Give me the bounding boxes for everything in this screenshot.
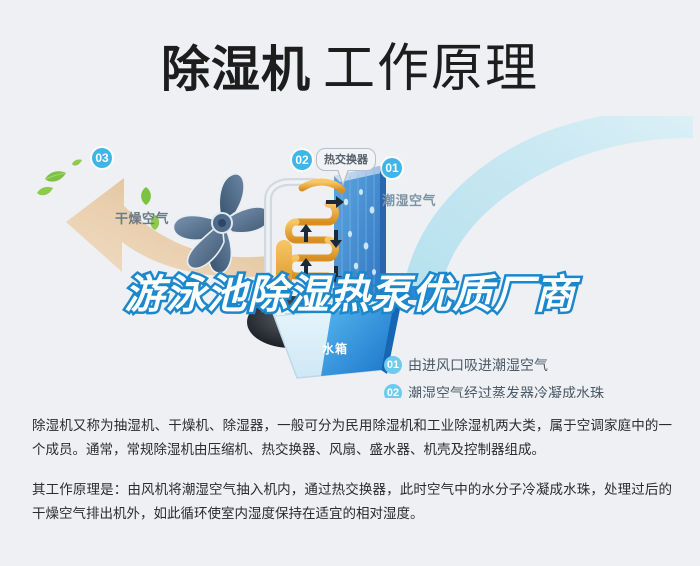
list-item: 02 潮湿空气经过蒸发器冷凝成水珠 [384,379,684,398]
page-title-part1: 除湿机 [161,41,311,98]
diagram-badge-01: 01 [382,158,402,178]
step-text: 由进风口吸进潮湿空气 [408,355,548,375]
watermark-text: 游泳池除湿热泵优质厂商 [0,262,700,320]
list-item: 01 由进风口吸进潮湿空气 [384,351,684,379]
diagram-badge-03: 03 [92,148,112,168]
dehumidifier-diagram: 水箱 03 干燥空气 02 热交换器 01 潮湿空气 01 由进风口吸进潮湿空气… [0,108,700,398]
dry-air-label: 干燥空气 [115,208,169,227]
step-badge: 01 [384,356,402,374]
steps-list: 01 由进风口吸进潮湿空气 02 潮湿空气经过蒸发器冷凝成水珠 03 从上部出风… [384,351,684,398]
step-badge: 02 [384,384,402,398]
leaf-icon [72,154,82,172]
description-paragraph-1: 除湿机又称为抽湿机、干燥机、除湿器，一般可分为民用除湿机和工业除湿机两大类，属于… [32,414,672,462]
heat-exchanger-callout: 热交换器 [316,148,376,171]
humid-air-label: 潮湿空气 [382,190,436,209]
diagram-badge-02: 02 [292,150,312,170]
page-title-part2: 工作原理 [323,40,539,98]
humid-air-flow-arrow [395,116,695,366]
water-tank-label: 水箱 [322,340,348,357]
description-paragraph-2: 其工作原理是：由风机将潮湿空气抽入机内，通过热交换器，此时空气中的水分子冷凝成水… [32,478,672,526]
step-text: 潮湿空气经过蒸发器冷凝成水珠 [408,383,604,398]
infographic-page: 除湿机工作原理 [0,0,700,566]
page-title: 除湿机工作原理 [0,26,700,101]
leaf-icon [36,184,54,202]
